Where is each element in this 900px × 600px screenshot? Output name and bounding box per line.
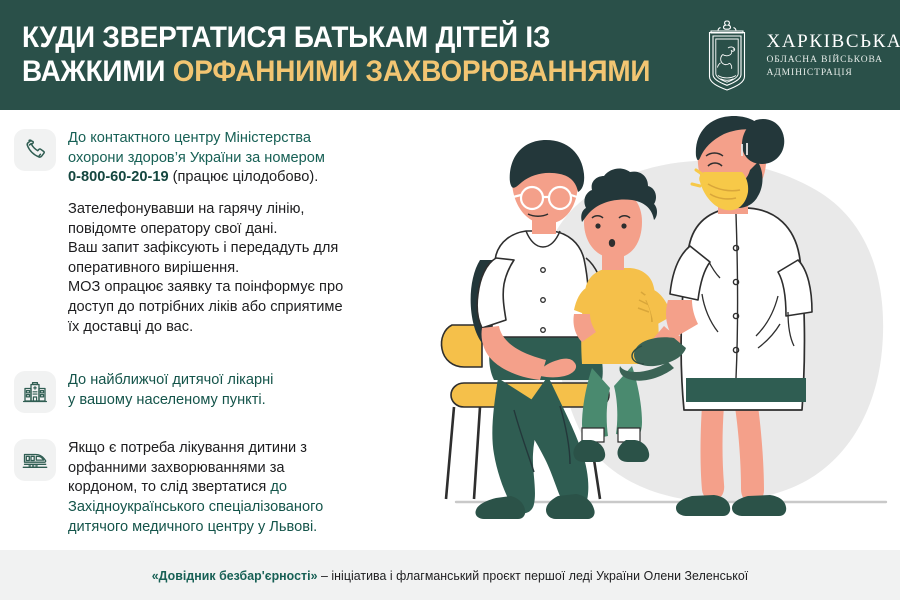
contact-center-paragraph: Зателефонувавши на гарячу лінію, повідом… <box>68 200 433 337</box>
title-plain: ВАЖКИМИ <box>22 55 173 88</box>
abroad-line: орфанними захворюваннями за <box>68 459 433 479</box>
contact-lead-line-1: До контактного центру Міністерства <box>68 129 433 149</box>
doctor-examining-child-with-mother-illustration <box>430 110 900 550</box>
abroad-line: Якщо є потреба лікування дитини з <box>68 439 433 459</box>
treatment-abroad-text: Якщо є потреба лікування дитини з орфанн… <box>68 438 433 537</box>
contact-phone-line: 0-800-60-20-19 (працює цілодобово). <box>68 168 433 188</box>
center-name-line: дитячого медичного центру у Львові. <box>68 518 433 538</box>
contact-center-block: До контактного центру Міністерства охоро… <box>0 128 433 337</box>
title-accent: ОРФАННИМИ ЗАХВОРЮВАННЯМИ <box>173 55 650 88</box>
contact-center-text: До контактного центру Міністерства охоро… <box>68 128 433 337</box>
footer-band: «Довідник безбар'єрності» – ініціатива і… <box>0 550 900 600</box>
footer-text: «Довідник безбар'єрності» – ініціатива і… <box>152 568 749 583</box>
train-icon <box>14 439 56 481</box>
page-title-line-2: ВАЖКИМИ ОРФАННИМИ ЗАХВОРЮВАННЯМИ <box>22 55 650 89</box>
contact-lead-line-2: охорони здоров’я України за номером <box>68 149 433 169</box>
kharkiv-oblast-administration-logo: ХАРКІВСЬКА ОБЛАСНА ВІЙСЬКОВА АДМІНІСТРАЦ… <box>698 18 900 92</box>
abroad-line-with-link: кордоном, то слід звертатися до <box>68 478 433 498</box>
title-wrap: КУДИ ЗВЕРТАТИСЯ БАТЬКАМ ДІТЕЙ ІЗ ВАЖКИМИ… <box>22 21 698 88</box>
hotline-note: (працює цілодобово). <box>169 169 319 185</box>
nearest-hospital-text: До найближчої дитячої лікарні у вашому н… <box>68 370 433 410</box>
paragraph-line: Ваш запит зафіксують і передадуть для <box>68 239 433 259</box>
logo-subtitle-2: АДМІНІСТРАЦІЯ <box>767 69 900 79</box>
phone-handset-icon <box>14 129 56 171</box>
hospital-building-icon <box>14 371 56 413</box>
logo-title: ХАРКІВСЬКА <box>767 32 900 51</box>
page-title-line-1: КУДИ ЗВЕРТАТИСЯ БАТЬКАМ ДІТЕЙ ІЗ <box>22 21 650 55</box>
paragraph-line: Зателефонувавши на гарячу лінію, <box>68 200 433 220</box>
footer-project-name: «Довідник безбар'єрності» <box>152 568 318 583</box>
kharkiv-coat-of-arms-icon <box>698 18 756 92</box>
paragraph-line: їх доставці до вас. <box>68 318 433 338</box>
header-banner: КУДИ ЗВЕРТАТИСЯ БАТЬКАМ ДІТЕЙ ІЗ ВАЖКИМИ… <box>0 0 900 110</box>
paragraph-line: МОЗ опрацює заявку та поінформує про <box>68 278 433 298</box>
center-link-start: до <box>270 479 287 495</box>
hospital-line: у вашому населеному пункті. <box>68 391 433 411</box>
hotline-number[interactable]: 0-800-60-20-19 <box>68 169 169 185</box>
paragraph-line: доступ до потрібних ліків або сприятиме <box>68 298 433 318</box>
contact-center-lead: До контактного центру Міністерства охоро… <box>68 129 433 188</box>
abroad-line-3: кордоном, то слід звертатися <box>68 479 270 495</box>
logo-subtitle-1: ОБЛАСНА ВІЙСЬКОВА <box>767 56 900 66</box>
footer-description: – ініціатива і флагманський проєкт першо… <box>318 568 749 583</box>
hospital-line: До найближчої дитячої лікарні <box>68 371 433 391</box>
paragraph-line: повідомте оператору свої дані. <box>68 220 433 240</box>
nearest-hospital-block: До найближчої дитячої лікарні у вашому н… <box>0 370 433 413</box>
logo-text: ХАРКІВСЬКА ОБЛАСНА ВІЙСЬКОВА АДМІНІСТРАЦ… <box>767 32 900 78</box>
center-name-line: Західноукраїнського спеціалізованого <box>68 498 433 518</box>
paragraph-line: оперативного вирішення. <box>68 259 433 279</box>
treatment-abroad-block: Якщо є потреба лікування дитини з орфанн… <box>0 438 433 537</box>
content-column: До контактного центру Міністерства охоро… <box>0 110 470 550</box>
infographic-page: КУДИ ЗВЕРТАТИСЯ БАТЬКАМ ДІТЕЙ ІЗ ВАЖКИМИ… <box>0 0 900 600</box>
